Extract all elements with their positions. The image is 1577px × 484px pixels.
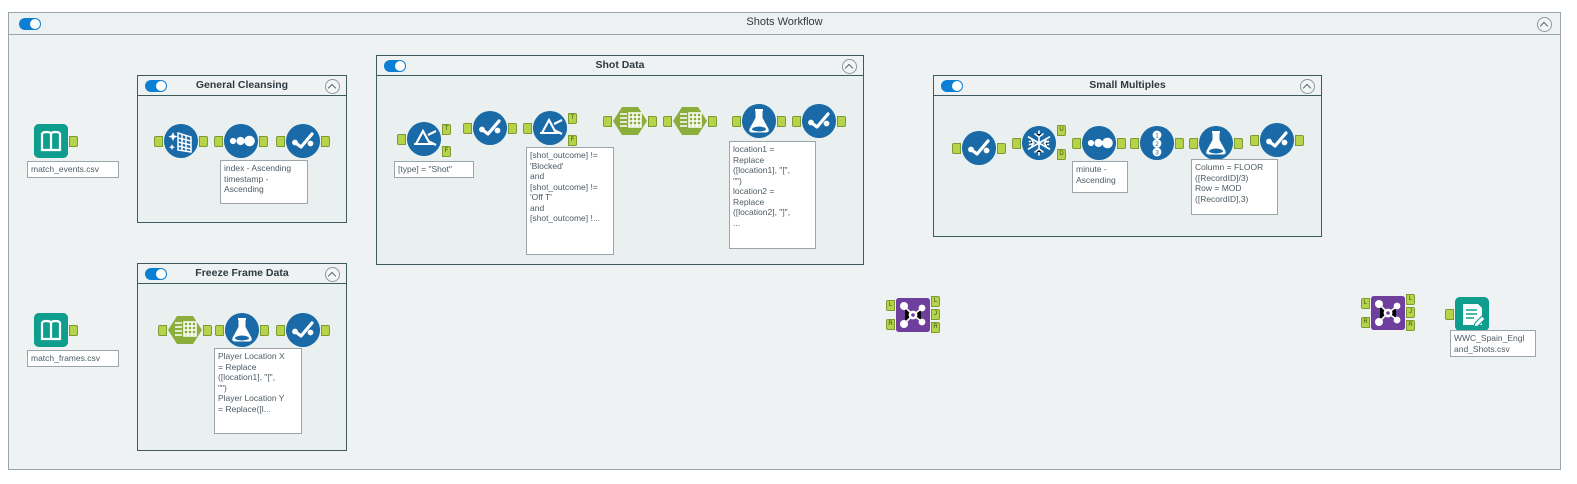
input-port-right[interactable]: R	[886, 319, 895, 330]
input-port[interactable]	[1250, 135, 1259, 146]
output-port-join[interactable]: J	[1406, 307, 1415, 318]
output-port[interactable]	[648, 116, 657, 127]
workflow-canvas: Shots Workflow General Cleansing Shot Da…	[0, 0, 1577, 484]
input-port[interactable]	[603, 116, 612, 127]
input-port[interactable]	[792, 116, 801, 127]
output-port-false[interactable]: F	[442, 146, 451, 157]
text-to-columns-tool-2[interactable]	[673, 104, 707, 138]
chevron-up-icon[interactable]	[1300, 79, 1315, 94]
chevron-up-icon[interactable]	[842, 59, 857, 74]
input-data-icon	[34, 313, 68, 347]
select-icon	[802, 104, 836, 138]
input-port[interactable]	[276, 136, 285, 147]
unique-tool[interactable]: U D	[1022, 126, 1056, 160]
output-port[interactable]	[1295, 135, 1304, 146]
annotation-formula-player-location: Player Location X = Replace ([location1]…	[214, 348, 302, 434]
output-port-false[interactable]: F	[568, 135, 577, 146]
output-port[interactable]	[508, 123, 517, 134]
sort-icon	[224, 124, 258, 158]
output-label-shots-csv: WWC_Spain_Engl and_Shots.csv	[1450, 330, 1536, 357]
svg-text:2: 2	[1155, 141, 1159, 148]
select-tool-small-multiples-1[interactable]	[962, 131, 996, 165]
select-tool-freeze-frame[interactable]	[286, 313, 320, 347]
container-header: Freeze Frame Data	[138, 264, 346, 284]
select-icon	[286, 124, 320, 158]
select-icon	[286, 313, 320, 347]
chevron-up-icon[interactable]	[325, 79, 340, 94]
sort-tool-general-cleansing[interactable]	[224, 124, 258, 158]
annotation-formula-column-row: Column = FLOOR ([RecordID]/3) Row = MOD …	[1191, 159, 1278, 215]
output-port[interactable]	[203, 325, 212, 336]
snowflake-icon	[1022, 126, 1056, 160]
input-port[interactable]	[397, 134, 406, 145]
output-port[interactable]	[259, 136, 268, 147]
output-port-left[interactable]: L	[931, 296, 940, 307]
workflow-header: Shots Workflow	[9, 13, 1560, 35]
formula-tool-small-multiples[interactable]	[1199, 126, 1233, 160]
output-port-true[interactable]: T	[568, 113, 577, 124]
output-port-right[interactable]: R	[1406, 320, 1415, 331]
input-data-icon	[34, 124, 68, 158]
select-icon	[473, 111, 507, 145]
text-to-columns-tool-freeze-frame[interactable]	[168, 313, 202, 347]
svg-text:1: 1	[1155, 133, 1159, 140]
output-port[interactable]	[1234, 138, 1243, 149]
input-data-tool-match-events[interactable]	[34, 124, 68, 158]
container-header: Small Multiples	[934, 76, 1321, 96]
select-tool-small-multiples-2[interactable]	[1260, 123, 1294, 157]
formula-flask-icon	[225, 313, 259, 347]
input-port[interactable]	[732, 116, 741, 127]
input-port[interactable]	[215, 325, 224, 336]
svg-text:3: 3	[1155, 150, 1159, 157]
output-port[interactable]	[708, 116, 717, 127]
annotation-formula-locations: location1 = Replace ([location1], "[", "…	[729, 141, 816, 249]
container-title: Freeze Frame Data	[138, 267, 346, 279]
input-port-left[interactable]: L	[1361, 298, 1370, 309]
filter-tool-type-shot[interactable]: T F	[407, 122, 441, 156]
output-port[interactable]	[837, 116, 846, 127]
record-id-tool[interactable]: 1 2 3	[1140, 126, 1174, 160]
join-icon	[1371, 296, 1405, 330]
output-port[interactable]	[260, 325, 269, 336]
output-port-unique[interactable]: U	[1057, 125, 1066, 136]
text-to-columns-icon	[168, 313, 202, 347]
select-icon	[1260, 123, 1294, 157]
output-port-true[interactable]: T	[442, 124, 451, 135]
input-port[interactable]	[214, 136, 223, 147]
select-tool-shot-data-2[interactable]	[802, 104, 836, 138]
select-tool-general-cleansing[interactable]	[286, 124, 320, 158]
output-port[interactable]	[321, 325, 330, 336]
output-port-join[interactable]: J	[931, 309, 940, 320]
input-port[interactable]	[523, 123, 532, 134]
filter-icon	[407, 122, 441, 156]
output-port-left[interactable]: L	[1406, 294, 1415, 305]
input-label-match-frames: match_frames.csv	[27, 350, 119, 367]
input-port[interactable]	[663, 116, 672, 127]
input-port-left[interactable]: L	[886, 300, 895, 311]
filter-icon	[533, 111, 567, 145]
input-port[interactable]	[1445, 309, 1454, 320]
text-to-columns-icon	[673, 104, 707, 138]
input-port[interactable]	[1072, 138, 1081, 149]
container-title: General Cleansing	[138, 79, 346, 91]
output-port-duplicate[interactable]: D	[1057, 149, 1066, 160]
formula-tool-freeze-frame[interactable]	[225, 313, 259, 347]
output-port[interactable]	[1117, 138, 1126, 149]
join-icon	[896, 298, 930, 332]
annotation-sort: index - Ascending timestamp - Ascending	[220, 160, 308, 204]
formula-flask-icon	[1199, 126, 1233, 160]
select-tool-shot-data-1[interactable]	[473, 111, 507, 145]
output-port[interactable]	[199, 136, 208, 147]
output-port-right[interactable]: R	[931, 322, 940, 333]
container-title: Small Multiples	[934, 79, 1321, 91]
chevron-up-icon[interactable]	[325, 267, 340, 282]
container-header: Shot Data	[377, 56, 863, 76]
annotation-filter-shot-outcome: [shot_outcome] != 'Blocked' and [shot_ou…	[526, 147, 614, 255]
input-port[interactable]	[276, 325, 285, 336]
output-port[interactable]	[69, 325, 78, 336]
output-port[interactable]	[69, 136, 78, 147]
sort-icon	[1082, 126, 1116, 160]
input-port[interactable]	[1189, 138, 1198, 149]
output-data-tool[interactable]	[1455, 297, 1489, 331]
formula-tool-shot-data[interactable]	[742, 104, 776, 138]
output-port[interactable]	[321, 136, 330, 147]
input-port[interactable]	[1012, 138, 1021, 149]
input-port[interactable]	[1130, 138, 1139, 149]
annotation-filter-type: [type] = "Shot"	[394, 161, 474, 178]
data-cleansing-tool[interactable]	[164, 124, 198, 158]
container-header: General Cleansing	[138, 76, 346, 96]
output-port[interactable]	[1175, 138, 1184, 149]
text-to-columns-icon	[613, 104, 647, 138]
input-port[interactable]	[952, 143, 961, 154]
sort-tool-small-multiples[interactable]	[1082, 126, 1116, 160]
formula-flask-icon	[742, 104, 776, 138]
input-data-tool-match-frames[interactable]	[34, 313, 68, 347]
input-port[interactable]	[158, 325, 167, 336]
input-port[interactable]	[154, 136, 163, 147]
record-id-icon: 1 2 3	[1140, 126, 1174, 160]
select-icon	[962, 131, 996, 165]
output-data-icon	[1455, 297, 1489, 331]
annotation-sort-minute: minute - Ascending	[1072, 161, 1128, 193]
output-port[interactable]	[997, 143, 1006, 154]
join-tool-1[interactable]: L R L J R	[896, 298, 930, 332]
output-port[interactable]	[777, 116, 786, 127]
workflow-title: Shots Workflow	[9, 16, 1560, 28]
input-port-right[interactable]: R	[1361, 317, 1370, 328]
text-to-columns-tool-1[interactable]	[613, 104, 647, 138]
join-tool-2[interactable]: L R L J R	[1371, 296, 1405, 330]
filter-tool-shot-outcome[interactable]: T F	[533, 111, 567, 145]
container-title: Shot Data	[377, 59, 863, 71]
input-label-match-events: match_events.csv	[27, 161, 119, 178]
data-cleansing-icon	[164, 124, 198, 158]
chevron-up-icon[interactable]	[1537, 17, 1552, 32]
input-port[interactable]	[463, 123, 472, 134]
